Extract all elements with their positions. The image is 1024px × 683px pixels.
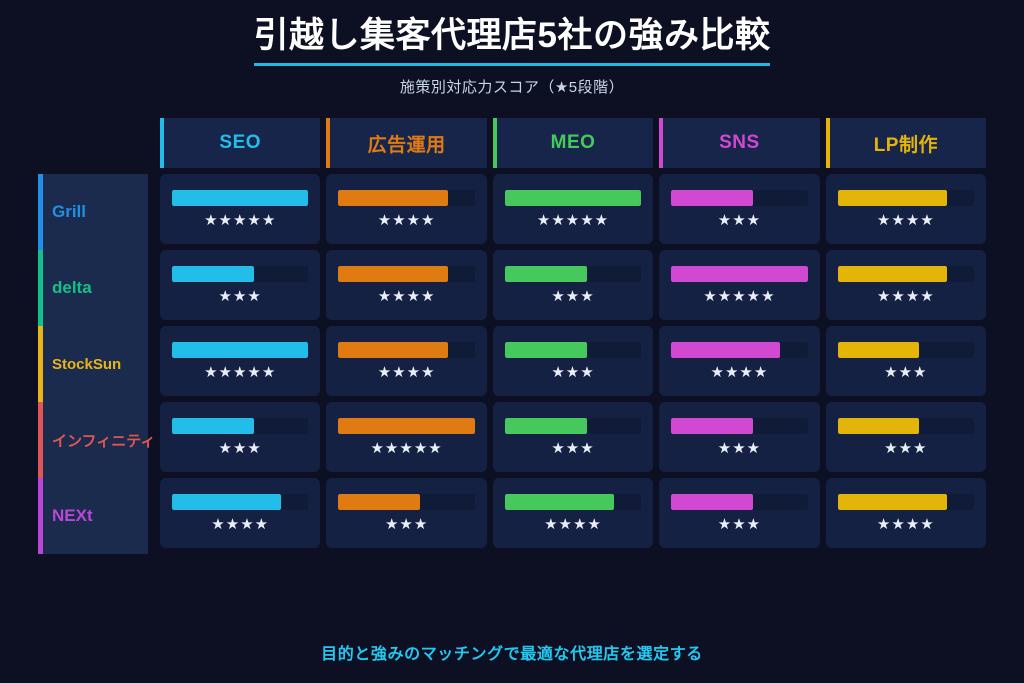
- table-row: Grill★★★★★★★★★★★★★★★★★★★★★: [38, 174, 986, 250]
- page-title: 引越し集客代理店5社の強み比較: [254, 14, 771, 66]
- score-bar-track: [338, 266, 474, 282]
- score-stars: ★★★★★: [370, 441, 442, 456]
- title-block: 引越し集客代理店5社の強み比較 施策別対応力スコア（★5段階）: [0, 14, 1024, 97]
- score-stars: ★★★: [219, 289, 262, 304]
- score-bar-track: [671, 494, 807, 510]
- row-accent-bar-icon: [38, 174, 43, 250]
- column-header-label: SEO: [219, 132, 261, 154]
- score-bar-track: [505, 190, 641, 206]
- matrix-header-row: SEO広告運用MEOSNSLP制作: [38, 118, 986, 168]
- score-cell[interactable]: ★★★: [826, 326, 986, 396]
- score-bar-fill: [671, 342, 780, 358]
- score-stars: ★★★★: [378, 289, 436, 304]
- row-header-label: Grill: [38, 202, 86, 222]
- score-bar-track: [172, 190, 308, 206]
- score-stars: ★★★★: [378, 213, 436, 228]
- score-bar-fill: [505, 418, 587, 434]
- score-bar-fill: [338, 494, 420, 510]
- score-stars: ★★★★★: [204, 213, 276, 228]
- score-cell[interactable]: ★★★★: [826, 174, 986, 244]
- column-header-label: LP制作: [874, 130, 938, 157]
- score-bar-track: [671, 342, 807, 358]
- score-bar-fill: [838, 418, 920, 434]
- score-cell[interactable]: ★★★: [826, 402, 986, 472]
- score-bar-track: [505, 418, 641, 434]
- matrix-corner-spacer: [38, 118, 148, 168]
- score-cell[interactable]: ★★★★: [326, 250, 486, 320]
- score-bar-track: [838, 190, 974, 206]
- score-stars: ★★★: [884, 441, 927, 456]
- score-bar-track: [172, 494, 308, 510]
- column-accent-bar-icon: [326, 118, 330, 168]
- row-header-label: インフィニティ: [38, 430, 155, 451]
- matrix-body: Grill★★★★★★★★★★★★★★★★★★★★★delta★★★★★★★★★…: [38, 174, 986, 554]
- score-cell[interactable]: ★★★: [659, 174, 819, 244]
- score-bar-track: [338, 190, 474, 206]
- column-header-5[interactable]: LP制作: [826, 118, 986, 168]
- score-cell[interactable]: ★★★: [493, 326, 653, 396]
- row-accent-bar-icon: [38, 326, 43, 402]
- score-stars: ★★★★★: [537, 213, 609, 228]
- column-header-label: SNS: [719, 132, 760, 154]
- column-header-label: 広告運用: [368, 130, 446, 157]
- score-bar-fill: [172, 418, 254, 434]
- score-cell[interactable]: ★★★★: [160, 478, 320, 548]
- infographic-root: 引越し集客代理店5社の強み比較 施策別対応力スコア（★5段階） SEO広告運用M…: [0, 0, 1024, 683]
- score-cell[interactable]: ★★★★: [493, 478, 653, 548]
- column-accent-bar-icon: [826, 118, 830, 168]
- score-bar-fill: [505, 494, 614, 510]
- score-stars: ★★★: [884, 365, 927, 380]
- score-bar-track: [838, 494, 974, 510]
- score-bar-track: [338, 342, 474, 358]
- score-stars: ★★★★: [378, 365, 436, 380]
- score-bar-track: [172, 266, 308, 282]
- score-cell[interactable]: ★★★★: [659, 326, 819, 396]
- score-stars: ★★★★: [711, 365, 769, 380]
- score-cell[interactable]: ★★★★: [326, 174, 486, 244]
- page-subtitle: 施策別対応力スコア（★5段階）: [0, 76, 1024, 97]
- score-stars: ★★★: [219, 441, 262, 456]
- score-stars: ★★★★★: [703, 289, 775, 304]
- score-stars: ★★★: [718, 441, 761, 456]
- score-cell[interactable]: ★★★★★: [326, 402, 486, 472]
- score-bar-track: [505, 494, 641, 510]
- score-bar-track: [505, 342, 641, 358]
- score-bar-track: [505, 266, 641, 282]
- score-cell[interactable]: ★★★★★: [659, 250, 819, 320]
- column-header-2[interactable]: 広告運用: [326, 118, 486, 168]
- column-header-1[interactable]: SEO: [160, 118, 320, 168]
- row-header-4[interactable]: インフィニティ: [38, 402, 148, 478]
- score-stars: ★★★★: [877, 289, 935, 304]
- score-bar-track: [338, 494, 474, 510]
- column-header-4[interactable]: SNS: [659, 118, 819, 168]
- row-header-5[interactable]: NEXt: [38, 478, 148, 554]
- row-header-3[interactable]: StockSun: [38, 326, 148, 402]
- column-accent-bar-icon: [160, 118, 164, 168]
- score-cell[interactable]: ★★★: [493, 402, 653, 472]
- score-stars: ★★★: [385, 517, 428, 532]
- row-accent-bar-icon: [38, 402, 43, 478]
- score-bar-track: [838, 266, 974, 282]
- score-cell[interactable]: ★★★: [160, 402, 320, 472]
- score-bar-fill: [338, 266, 447, 282]
- row-header-1[interactable]: Grill: [38, 174, 148, 250]
- score-bar-fill: [838, 342, 920, 358]
- table-row: インフィニティ★★★★★★★★★★★★★★★★★: [38, 402, 986, 478]
- score-cell[interactable]: ★★★★: [826, 478, 986, 548]
- score-cell[interactable]: ★★★★★: [493, 174, 653, 244]
- score-stars: ★★★★: [877, 213, 935, 228]
- score-cell[interactable]: ★★★: [326, 478, 486, 548]
- score-stars: ★★★★: [544, 517, 602, 532]
- score-bar-fill: [172, 494, 281, 510]
- row-accent-bar-icon: [38, 478, 43, 554]
- score-cell[interactable]: ★★★★: [326, 326, 486, 396]
- score-bar-fill: [172, 266, 254, 282]
- score-bar-fill: [671, 190, 753, 206]
- score-cell[interactable]: ★★★★: [826, 250, 986, 320]
- score-cell[interactable]: ★★★★★: [160, 174, 320, 244]
- score-bar-track: [838, 418, 974, 434]
- score-bar-track: [671, 266, 807, 282]
- score-stars: ★★★★★: [204, 365, 276, 380]
- row-header-label: delta: [38, 278, 92, 298]
- comparison-matrix: SEO広告運用MEOSNSLP制作 Grill★★★★★★★★★★★★★★★★★…: [38, 118, 986, 554]
- score-stars: ★★★: [551, 365, 594, 380]
- score-bar-fill: [838, 190, 947, 206]
- row-header-2[interactable]: delta: [38, 250, 148, 326]
- score-cell[interactable]: ★★★: [659, 402, 819, 472]
- table-row: NEXt★★★★★★★★★★★★★★★★★★: [38, 478, 986, 554]
- score-bar-fill: [338, 190, 447, 206]
- score-bar-track: [172, 342, 308, 358]
- score-stars: ★★★★: [877, 517, 935, 532]
- score-bar-fill: [338, 418, 474, 434]
- score-bar-track: [671, 418, 807, 434]
- score-bar-fill: [172, 190, 308, 206]
- column-header-3[interactable]: MEO: [493, 118, 653, 168]
- column-accent-bar-icon: [659, 118, 663, 168]
- score-bar-fill: [671, 266, 807, 282]
- score-bar-fill: [671, 418, 753, 434]
- score-cell[interactable]: ★★★★★: [160, 326, 320, 396]
- score-stars: ★★★: [718, 517, 761, 532]
- score-bar-fill: [505, 266, 587, 282]
- score-stars: ★★★★: [211, 517, 269, 532]
- score-stars: ★★★: [718, 213, 761, 228]
- score-bar-track: [838, 342, 974, 358]
- score-stars: ★★★: [551, 441, 594, 456]
- score-bar-fill: [338, 342, 447, 358]
- score-bar-track: [338, 418, 474, 434]
- column-accent-bar-icon: [493, 118, 497, 168]
- score-bar-fill: [838, 266, 947, 282]
- row-header-label: NEXt: [38, 506, 93, 526]
- column-header-label: MEO: [551, 132, 596, 154]
- score-cell[interactable]: ★★★: [160, 250, 320, 320]
- table-row: StockSun★★★★★★★★★★★★★★★★★★★: [38, 326, 986, 402]
- footer-note: 目的と強みのマッチングで最適な代理店を選定する: [0, 640, 1024, 664]
- table-row: delta★★★★★★★★★★★★★★★★★★★: [38, 250, 986, 326]
- score-stars: ★★★: [551, 289, 594, 304]
- score-bar-fill: [838, 494, 947, 510]
- score-bar-track: [172, 418, 308, 434]
- score-cell[interactable]: ★★★: [493, 250, 653, 320]
- row-header-label: StockSun: [38, 356, 121, 373]
- score-bar-fill: [505, 342, 587, 358]
- score-bar-fill: [671, 494, 753, 510]
- score-bar-fill: [172, 342, 308, 358]
- score-cell[interactable]: ★★★: [659, 478, 819, 548]
- score-bar-fill: [505, 190, 641, 206]
- score-bar-track: [671, 190, 807, 206]
- row-accent-bar-icon: [38, 250, 43, 326]
